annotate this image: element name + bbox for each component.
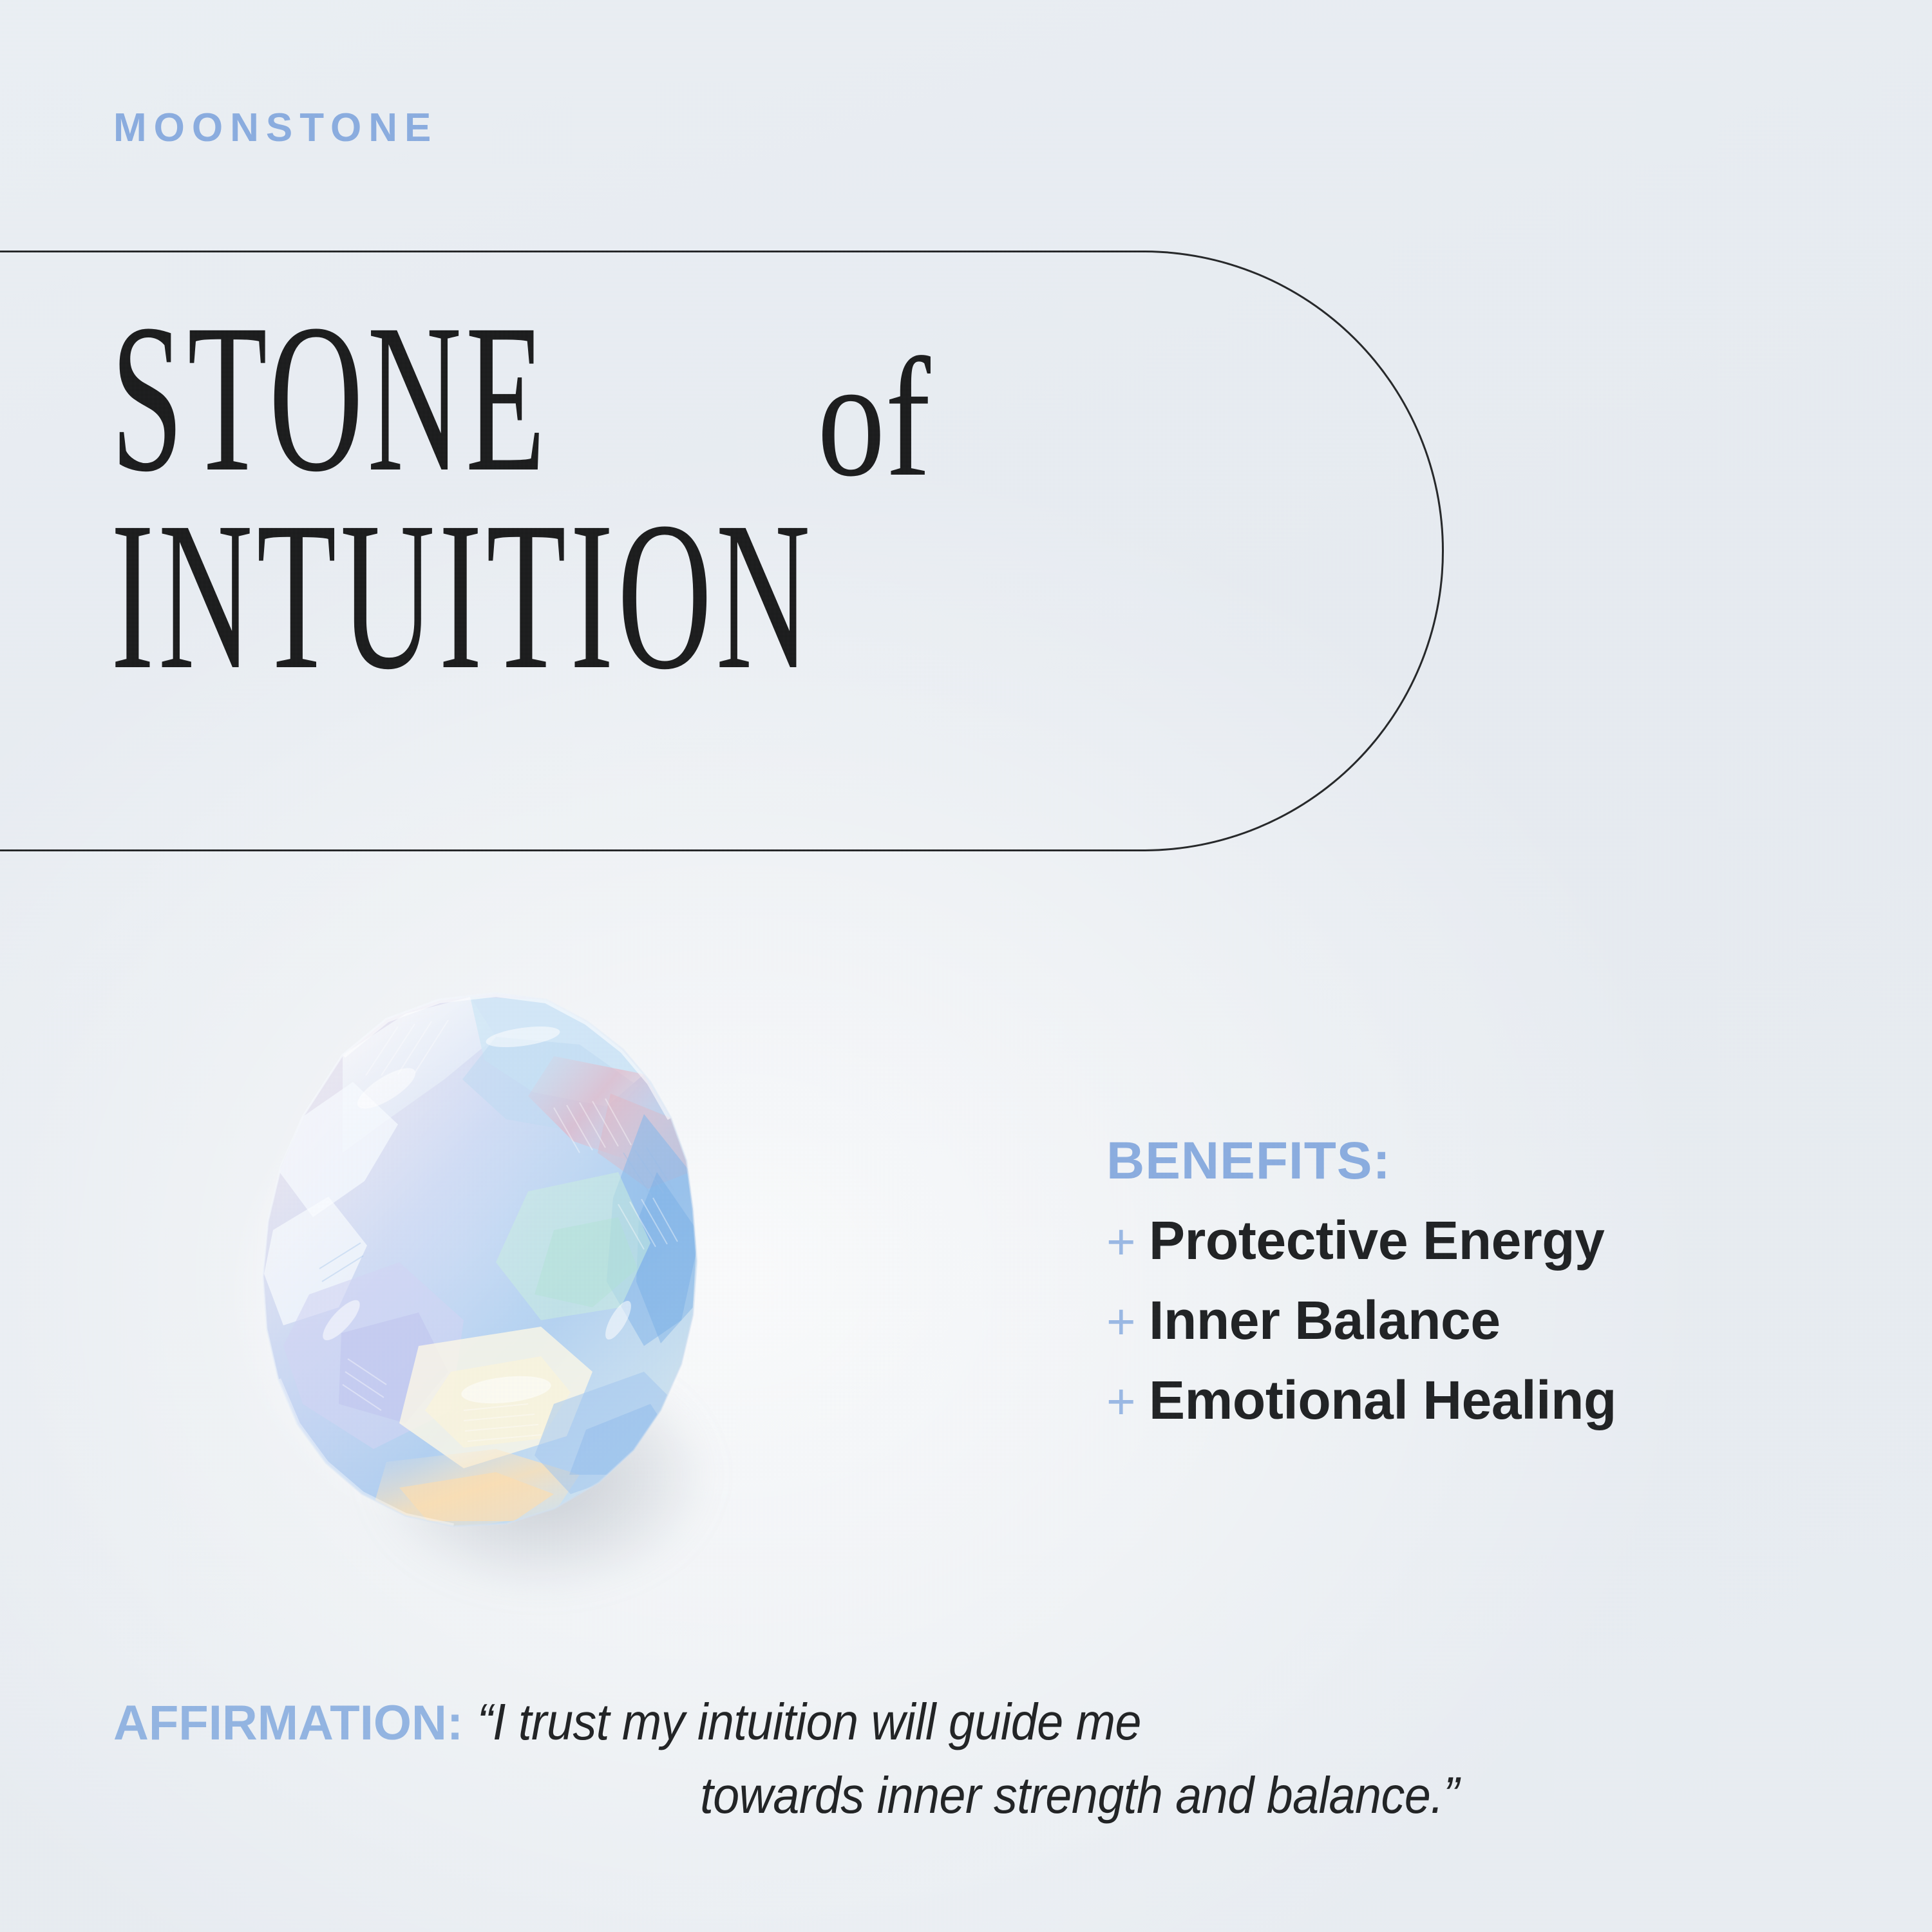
benefit-item-1: + Inner Balance [1106, 1293, 1828, 1347]
category-eyebrow-label: MOONSTONE [113, 108, 438, 148]
affirmation-quote-line-1: “I trust my intuition will guide me [477, 1696, 1141, 1748]
affirmation-line-2: towards inner strength and balance.” [113, 1770, 1852, 1821]
plus-icon: + [1106, 1376, 1149, 1426]
benefit-item-0: + Protective Energy [1106, 1213, 1828, 1267]
benefit-label-2: Emotional Healing [1149, 1373, 1616, 1427]
moonstone-crystal-image [193, 960, 773, 1655]
page-title: STONEof INTUITION [111, 303, 1399, 692]
benefit-label-0: Protective Energy [1149, 1213, 1605, 1267]
affirmation-line-1: AFFIRMATION: “I trust my intuition will … [113, 1696, 1852, 1748]
affirmation-section: AFFIRMATION: “I trust my intuition will … [113, 1696, 1852, 1821]
benefits-heading: BENEFITS: [1106, 1135, 1828, 1188]
crystal-vector [193, 960, 773, 1655]
plus-icon: + [1106, 1296, 1149, 1347]
crystal-body [193, 960, 773, 1655]
title-line-2: INTUITION [111, 500, 1399, 692]
title-line-1: STONEof [111, 303, 1399, 494]
plus-icon: + [1106, 1217, 1149, 1267]
moonstone-crystal-card: MOONSTONE STONEof INTUITION [0, 0, 1932, 1932]
benefit-item-2: + Emotional Healing [1106, 1373, 1828, 1427]
title-word-of: of [817, 342, 931, 495]
affirmation-quote-line-2: towards inner strength and balance.” [700, 1770, 1459, 1821]
benefit-label-1: Inner Balance [1149, 1293, 1501, 1347]
title-word-stone: STONE [111, 303, 549, 494]
affirmation-label: AFFIRMATION: [113, 1699, 463, 1748]
benefits-section: BENEFITS: + Protective Energy + Inner Ba… [1106, 1135, 1828, 1427]
title-word-intuition: INTUITION [111, 500, 814, 692]
